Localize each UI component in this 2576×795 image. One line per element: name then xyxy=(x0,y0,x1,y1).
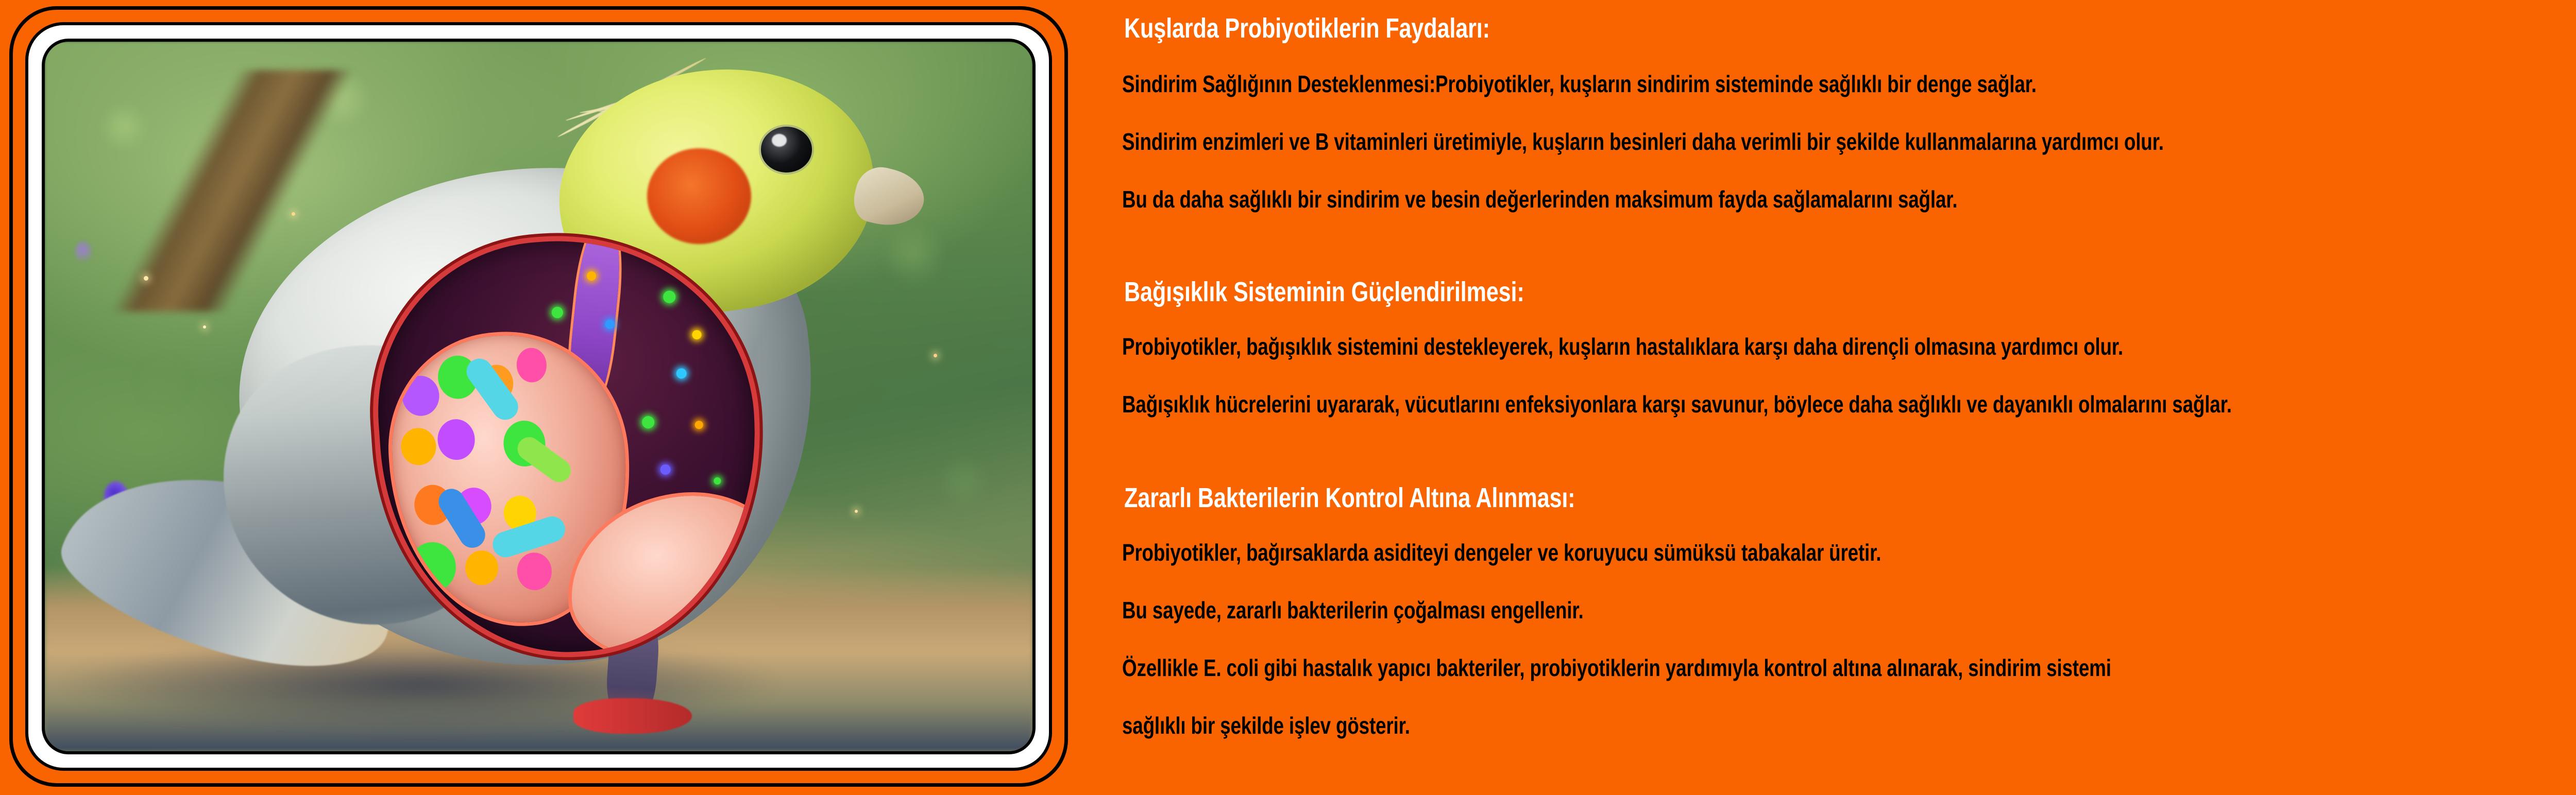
section-1-line-1: Sindirim Sağlığının Desteklenmesi:Probiy… xyxy=(1122,72,2037,96)
probiotic-colony xyxy=(464,549,499,586)
microbe-dot xyxy=(694,420,703,429)
section-1-heading: Kuşlarda Probiyotiklerin Faydaları: xyxy=(1124,14,1490,42)
microbe-dot xyxy=(714,477,721,485)
bokeh-spark xyxy=(292,212,295,216)
illustration-mat xyxy=(25,22,1052,771)
section-2-line-1: Probiyotikler, bağışıklık sistemini dest… xyxy=(1122,335,2123,358)
poster-root: Kuşlarda Probiyotiklerin Faydaları: Sind… xyxy=(0,0,2576,795)
probiotic-colony xyxy=(515,347,548,383)
probiotic-colony xyxy=(401,374,441,417)
probiotic-colony xyxy=(400,427,437,466)
purple-bokeh-blob xyxy=(75,240,92,264)
bird-eye-glint xyxy=(772,134,787,147)
microbe-dot xyxy=(663,290,676,304)
section-1-line-3: Bu da daha sağlıklı bir sindirim ve besi… xyxy=(1122,187,1957,211)
microbe-dot xyxy=(604,319,614,329)
bird-eye xyxy=(761,127,812,172)
bird-foot xyxy=(573,698,692,734)
text-column: Kuşlarda Probiyotiklerin Faydaları: Sind… xyxy=(1122,0,2576,795)
microbe-dot xyxy=(660,464,671,475)
section-3-line-2: Bu sayede, zararlı bakterilerin çoğalmas… xyxy=(1122,598,1584,622)
microbe-dot xyxy=(551,306,563,318)
section-3-line-3: Özellikle E. coli gibi hastalık yapıcı b… xyxy=(1122,656,2111,680)
section-2-line-2: Bağışıklık hücrelerini uyararak, vücutla… xyxy=(1122,392,2232,416)
section-3-line-4: sağlıklı bir şekilde işlev gösterir. xyxy=(1122,714,1410,737)
section-3-heading: Zararlı Bakterilerin Kontrol Altına Alın… xyxy=(1124,484,1575,512)
section-3-line-1: Probiyotikler, bağırsaklarda asiditeyi d… xyxy=(1122,541,1881,564)
microbe-dot xyxy=(641,416,655,429)
probiotic-colony xyxy=(436,418,477,461)
section-1-line-2: Sindirim enzimleri ve B vitaminleri üret… xyxy=(1122,130,2164,153)
bokeh-spark xyxy=(203,325,206,329)
section-2-heading: Bağışıklık Sisteminin Güçlendirilmesi: xyxy=(1124,278,1524,306)
illustration-frame xyxy=(9,6,1068,787)
probiotic-colony xyxy=(516,551,553,591)
microbe-dot xyxy=(692,330,702,339)
microbe-dot xyxy=(676,368,687,378)
bokeh-spark xyxy=(144,276,148,281)
bird-illustration xyxy=(42,39,1036,754)
bird-cheek-patch xyxy=(647,148,751,244)
